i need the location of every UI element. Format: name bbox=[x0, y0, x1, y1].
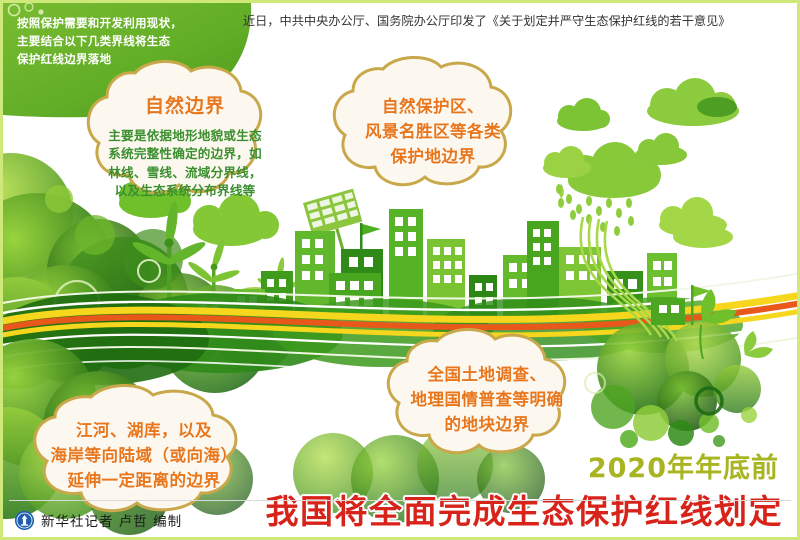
headline-year: 2020年年底前 bbox=[588, 446, 779, 485]
callout-protected-line-2: 风景名胜区等各类 bbox=[341, 120, 525, 145]
callout-protected-area: 自然保护区、 风景名胜区等各类 保护地边界 bbox=[333, 61, 533, 201]
callout-land-survey: 全国土地调查、 地理国情普查等明确 的地块边界 bbox=[389, 333, 585, 469]
xinhua-logo-icon bbox=[15, 511, 34, 530]
callout-natural-title: 自然边界 bbox=[95, 95, 275, 119]
callout-land-survey-body: 全国土地调查、 地理国情普查等明确 的地块边界 bbox=[389, 333, 585, 469]
callout-water-coast-line-2: 海岸等向陆域（或向海） bbox=[43, 444, 245, 469]
callout-natural-line-4: 以及生态系统分布界线等 bbox=[95, 182, 275, 200]
infographic-canvas: 按照保护需要和开发利用现状， 主要结合以下几类界线将生态 保护红线边界落地 近日… bbox=[0, 0, 800, 540]
banner-line-1: 按照保护需要和开发利用现状， bbox=[17, 15, 232, 33]
callout-protected-body: 自然保护区、 风景名胜区等各类 保护地边界 bbox=[333, 61, 533, 201]
callout-protected-line-1: 自然保护区、 bbox=[341, 95, 525, 120]
callout-water-coast-body: 江河、湖库，以及 海岸等向陆域（或向海） 延伸一定距离的边界 bbox=[35, 391, 253, 525]
callout-water-coast-line-3: 延伸一定距离的边界 bbox=[43, 469, 245, 494]
callout-natural-line-2: 系统完整性确定的边界，如 bbox=[95, 145, 275, 163]
callout-water-coast: 江河、湖库，以及 海岸等向陆域（或向海） 延伸一定距离的边界 bbox=[35, 391, 253, 525]
callout-natural-line-3: 林线、雪线、流域分界线， bbox=[95, 164, 275, 182]
callout-land-survey-line-3: 的地块边界 bbox=[397, 413, 577, 438]
headline-main: 我国将全面完成生态保护红线划定 bbox=[266, 485, 784, 533]
callout-land-survey-line-2: 地理国情普查等明确 bbox=[397, 388, 577, 413]
banner-line-2: 主要结合以下几类界线将生态 bbox=[17, 33, 232, 51]
credit-divider bbox=[9, 500, 791, 501]
credit-block: 新华社记者 卢哲 编制 bbox=[15, 510, 182, 530]
callout-natural-boundary: 自然边界 主要是依据地形地貌或生态 系统完整性确定的边界，如 林线、雪线、流域分… bbox=[87, 65, 283, 211]
callout-water-coast-line-1: 江河、湖库，以及 bbox=[43, 419, 245, 444]
callout-land-survey-line-1: 全国土地调查、 bbox=[397, 363, 577, 388]
credit-text: 新华社记者 卢哲 编制 bbox=[41, 510, 182, 530]
lead-paragraph: 近日，中共中央办公厅、国务院办公厅印发了《关于划定并严守生态保护红线的若干意见》 bbox=[243, 14, 791, 30]
callout-natural-line-1: 主要是依据地形地貌或生态 bbox=[95, 127, 275, 145]
callout-protected-line-3: 保护地边界 bbox=[341, 145, 525, 170]
banner-text-block: 按照保护需要和开发利用现状， 主要结合以下几类界线将生态 保护红线边界落地 bbox=[17, 15, 232, 68]
callout-natural-body: 自然边界 主要是依据地形地貌或生态 系统完整性确定的边界，如 林线、雪线、流域分… bbox=[87, 65, 283, 211]
